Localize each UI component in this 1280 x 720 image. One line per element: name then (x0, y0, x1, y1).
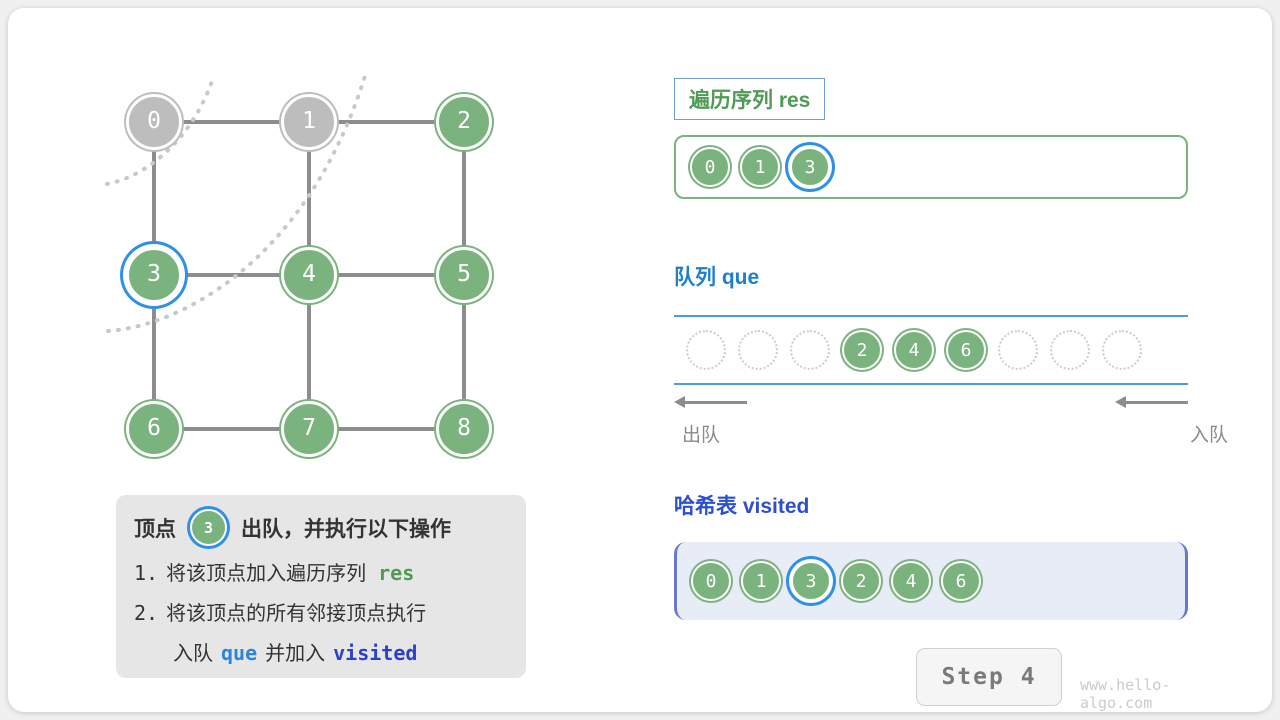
visited-item-5[interactable]: 6 (941, 561, 981, 601)
graph-node-label: 2 (457, 108, 471, 134)
queue-slot-7[interactable] (1050, 330, 1090, 370)
res-item-1[interactable]: 1 (740, 147, 780, 187)
explanation-item-1: 1. 将该顶点加入遍历序列 res (134, 557, 508, 586)
graph-node-label: 4 (302, 261, 316, 287)
explanation-item-2-continued: 入队 que 并加入 visited (134, 637, 508, 666)
explanation-item-2-text: 将该顶点的所有邻接顶点执行 (166, 597, 426, 626)
graph-node-1[interactable]: 1 (281, 94, 337, 150)
graph-node-7[interactable]: 7 (281, 401, 337, 457)
explanation-box: 顶点 3 出队，并执行以下操作 1. 将该顶点加入遍历序列 res 2. 将该顶… (116, 495, 526, 678)
explanation-suffix: 出队，并执行以下操作 (241, 513, 451, 543)
explanation-vertex-chip: 3 (190, 509, 227, 546)
res-item-2[interactable]: 3 (790, 147, 830, 187)
explanation-item-2: 2. 将该顶点的所有邻接顶点执行 (134, 597, 508, 626)
explanation-vertex-label: 3 (204, 519, 213, 537)
enqueue-label: 入队 (1190, 420, 1228, 447)
graph-node-label: 7 (302, 415, 316, 441)
queue-label: 队列 que (674, 261, 759, 291)
graph-node-3[interactable]: 3 (126, 247, 182, 303)
graph-node-label: 1 (302, 108, 316, 134)
visited-item-3[interactable]: 2 (841, 561, 881, 601)
state-panel: 遍历序列 res 013 队列 que 246 出队 入队 哈希表 visite… (674, 8, 1234, 712)
queue-slot-0[interactable] (686, 330, 726, 370)
step-badge: Step 4 (916, 648, 1062, 706)
explanation-item-2-code-visited: visited (333, 641, 417, 665)
graph-node-4[interactable]: 4 (281, 247, 337, 303)
queue-slot-2[interactable] (790, 330, 830, 370)
dequeue-arrow-head (674, 396, 685, 408)
queue-slot-3[interactable]: 2 (842, 330, 882, 370)
explanation-item-1-number: 1. (134, 561, 158, 585)
graph-node-6[interactable]: 6 (126, 401, 182, 457)
visited-item-0[interactable]: 0 (691, 561, 731, 601)
queue-slot-4[interactable]: 4 (894, 330, 934, 370)
graph-node-label: 5 (457, 261, 471, 287)
queue-slot-5[interactable]: 6 (946, 330, 986, 370)
res-label: 遍历序列 res (674, 78, 825, 120)
graph-node-2[interactable]: 2 (436, 94, 492, 150)
explanation-item-1-code: res (378, 561, 414, 585)
explanation-item-2-line2-pre: 入队 (173, 637, 213, 666)
queue-slot-8[interactable] (1102, 330, 1142, 370)
watermark: www.hello-algo.com (1080, 676, 1234, 712)
explanation-item-2-code-que: que (221, 641, 257, 665)
explanation-item-2-number: 2. (134, 601, 158, 625)
queue-container: 246 (674, 315, 1188, 385)
queue-slot-1[interactable] (738, 330, 778, 370)
visited-item-1[interactable]: 1 (741, 561, 781, 601)
explanation-item-2-line2-mid: 并加入 (265, 637, 325, 666)
graph-node-0[interactable]: 0 (126, 94, 182, 150)
visited-container: 013246 (674, 542, 1188, 620)
figure-card: 012345678 顶点 3 出队，并执行以下操作 1. 将该顶点加入遍历序列 … (8, 8, 1272, 712)
res-item-0[interactable]: 0 (690, 147, 730, 187)
explanation-heading: 顶点 3 出队，并执行以下操作 (134, 509, 508, 546)
graph-node-label: 6 (147, 415, 161, 441)
explanation-prefix: 顶点 (134, 513, 176, 543)
queue-arrows (674, 393, 1188, 411)
graph-panel: 012345678 (8, 8, 628, 478)
visited-item-4[interactable]: 4 (891, 561, 931, 601)
graph-node-8[interactable]: 8 (436, 401, 492, 457)
graph-node-label: 0 (147, 108, 161, 134)
explanation-item-1-text: 将该顶点加入遍历序列 (166, 561, 366, 585)
visited-label: 哈希表 visited (674, 490, 809, 520)
queue-slot-6[interactable] (998, 330, 1038, 370)
res-container: 013 (674, 135, 1188, 199)
graph-node-5[interactable]: 5 (436, 247, 492, 303)
graph-node-label: 3 (147, 261, 161, 287)
enqueue-arrow-head (1115, 396, 1126, 408)
enqueue-arrow-line (1126, 401, 1188, 404)
visited-item-2[interactable]: 3 (791, 561, 831, 601)
dequeue-label: 出队 (682, 420, 720, 447)
dequeue-arrow-line (685, 401, 747, 404)
graph-node-label: 8 (457, 415, 471, 441)
